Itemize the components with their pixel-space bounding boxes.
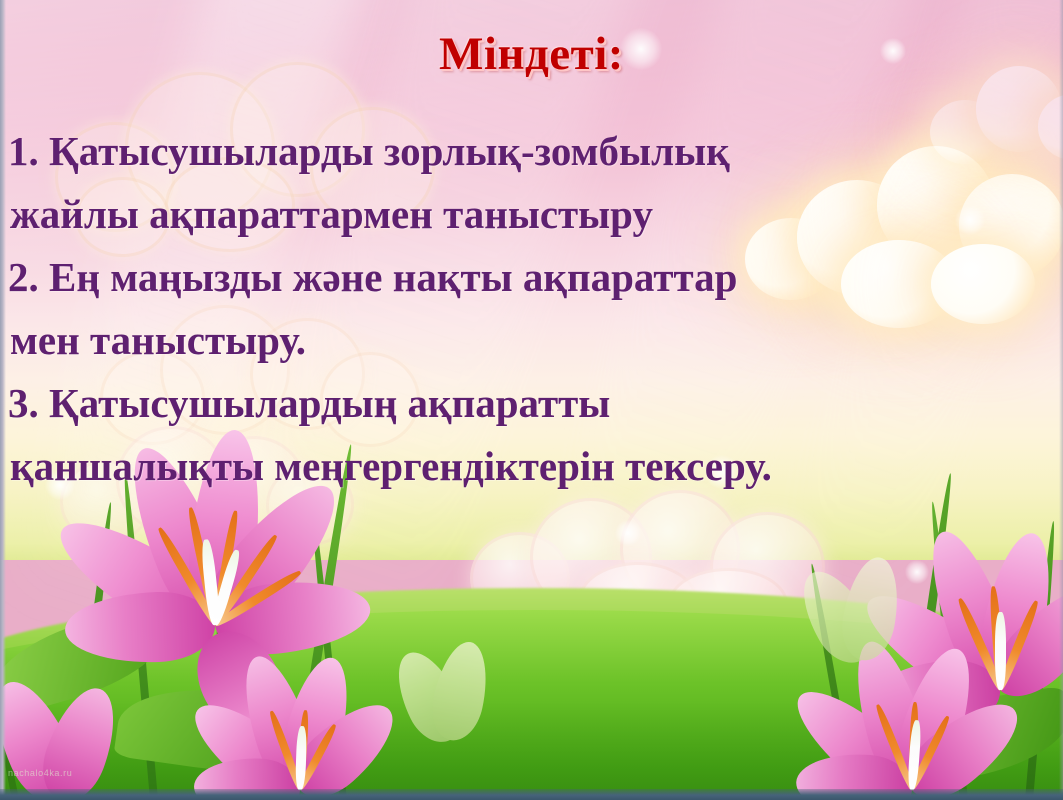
- slide-title: Міндеті:: [0, 31, 1063, 78]
- objective-3-line-1: 3. Қатысушылардың ақпаратты: [8, 372, 1058, 435]
- slide-canvas: Міндеті: 1. Қатысушыларды зорлық-зомбылы…: [0, 0, 1063, 800]
- objectives-list: 1. Қатысушыларды зорлық-зомбылық жайлы а…: [8, 120, 1058, 498]
- objective-3-line-2: қаншалықты меңгергендіктерін тексеру.: [8, 435, 1058, 498]
- objective-1-line-2: жайлы ақпараттармен таныстыру: [8, 183, 1058, 246]
- site-watermark: nachalo4ka.ru: [8, 768, 72, 778]
- objective-2-line-2: мен таныстыру.: [8, 309, 1058, 372]
- text-layer: Міндеті: 1. Қатысушыларды зорлық-зомбылы…: [0, 0, 1063, 800]
- objective-2-line-1: 2. Ең маңызды және нақты ақпараттар: [8, 246, 1058, 309]
- objective-1-line-1: 1. Қатысушыларды зорлық-зомбылық: [8, 120, 1058, 183]
